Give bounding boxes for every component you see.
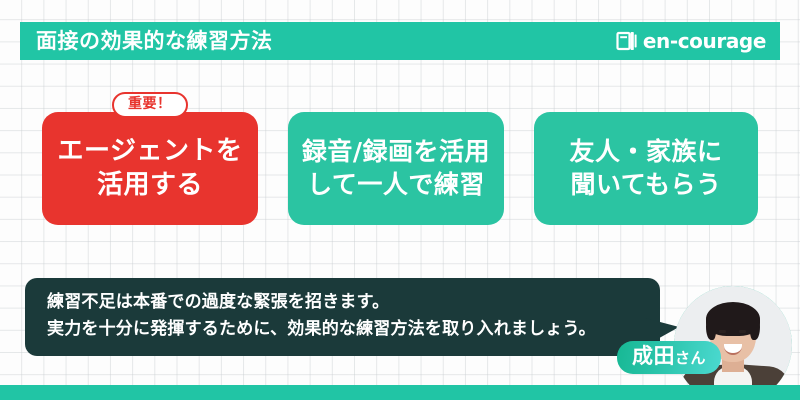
speaker-name: 成田 bbox=[632, 346, 675, 367]
header-bar: 面接の効果的な練習方法 en-courage bbox=[20, 22, 780, 60]
avatar-hair-left bbox=[706, 314, 716, 340]
slide-canvas: 面接の効果的な練習方法 en-courage 重要！ エージェントを 活用する … bbox=[0, 0, 800, 400]
method-card-1[interactable]: 重要！ エージェントを 活用する bbox=[42, 112, 258, 225]
brand-name: en-courage bbox=[643, 31, 766, 51]
important-badge: 重要！ bbox=[112, 92, 188, 118]
page-title: 面接の効果的な練習方法 bbox=[36, 31, 273, 52]
summary-callout: 練習不足は本番での過度な緊張を招きます。 実力を十分に発揮するために、効果的な練… bbox=[25, 278, 660, 356]
summary-line-1: 練習不足は本番での過度な緊張を招きます。 bbox=[47, 289, 660, 316]
speaker-name-suffix: さん bbox=[675, 351, 706, 366]
method-card-3[interactable]: 友人・家族に 聞いてもらう bbox=[534, 112, 758, 225]
speaker-name-badge: 成田 さん bbox=[617, 341, 721, 374]
method-card-1-label: エージェントを 活用する bbox=[52, 135, 249, 203]
method-card-2-label: 録音/録画を活用 して一人で練習 bbox=[296, 136, 496, 201]
method-card-3-label: 友人・家族に 聞いてもらう bbox=[563, 136, 728, 201]
avatar-hair-right bbox=[750, 314, 760, 340]
avatar-eye-right bbox=[739, 330, 746, 333]
method-cards: 重要！ エージェントを 活用する 録音/録画を活用 して一人で練習 友人・家族に… bbox=[42, 112, 758, 225]
summary-line-2: 実力を十分に発揮するために、効果的な練習方法を取り入れましょう。 bbox=[47, 316, 660, 343]
method-card-2[interactable]: 録音/録画を活用 して一人で練習 bbox=[288, 112, 504, 225]
open-book-icon bbox=[616, 30, 638, 52]
brand-logo: en-courage bbox=[616, 30, 766, 52]
footer-accent-bar bbox=[0, 385, 800, 400]
speaker-avatar bbox=[668, 278, 800, 400]
avatar-eye-left bbox=[719, 330, 726, 333]
